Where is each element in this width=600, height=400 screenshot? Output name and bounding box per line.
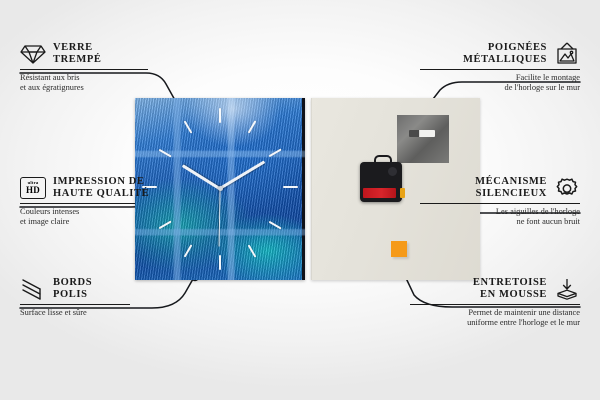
callout-title-line2: POLIS — [53, 289, 92, 301]
callout-header: ENTRETOISE EN MOUSSE — [410, 277, 580, 301]
framed-picture-icon — [554, 42, 580, 66]
callout-polished-edges: BORDS POLIS Surface lisse et sûre — [20, 277, 180, 318]
callout-sub-line2: et image claire — [20, 217, 195, 227]
hour-marker — [269, 220, 282, 229]
battery-terminal — [400, 188, 405, 198]
callout-sub-line2: de l'horloge sur le mur — [420, 83, 580, 93]
callout-title-line2: MÉTALLIQUES — [463, 54, 547, 66]
battery — [363, 188, 396, 198]
callout-sub-line2: et aux égratignures — [20, 83, 180, 93]
hour-marker — [219, 108, 221, 123]
callout-sub-line1: Surface lisse et sûre — [20, 308, 180, 318]
hour-marker — [184, 120, 193, 133]
callout-title-line1: MÉCANISME — [475, 176, 547, 188]
callout-sub-line1: Les aiguilles de l'horloge — [420, 207, 580, 217]
hour-marker — [269, 148, 282, 157]
callout-print-quality: ultra HD IMPRESSION DE HAUTE QUALITÉ Cou… — [20, 176, 195, 228]
hour-marker — [219, 255, 221, 270]
callout-header: BORDS POLIS — [20, 277, 180, 301]
callout-title-line1: POIGNÉES — [463, 42, 547, 54]
callout-tempered-glass: VERRE TREMPÉ Résistant aux bris et aux é… — [20, 42, 180, 94]
hour-marker — [159, 148, 172, 157]
callout-divider — [410, 304, 580, 305]
callout-header: POIGNÉES MÉTALLIQUES — [420, 42, 580, 66]
callout-sub-line1: Couleurs intenses — [20, 207, 195, 217]
callout-title-line2: EN MOUSSE — [473, 289, 547, 301]
callout-silent-mechanism: MÉCANISME SILENCIEUX Les aiguilles de l'… — [420, 176, 580, 228]
quartz-movement — [360, 162, 402, 202]
callout-header: ultra HD IMPRESSION DE HAUTE QUALITÉ — [20, 176, 195, 200]
polished-edges-icon — [20, 278, 46, 300]
hour-marker — [184, 244, 193, 257]
movement-hook — [374, 155, 392, 166]
callout-sub-line1: Facilite le montage — [420, 73, 580, 83]
callout-title-line1: IMPRESSION DE — [53, 176, 149, 188]
callout-sub-line1: Résistant aux bris — [20, 73, 180, 83]
callout-sub-line2: ne font aucun bruit — [420, 217, 580, 227]
callout-divider — [20, 69, 148, 70]
callout-title-line2: SILENCIEUX — [475, 188, 547, 200]
hanger-slot — [409, 130, 435, 137]
callout-divider — [420, 69, 580, 70]
hour-marker — [248, 120, 257, 133]
callout-divider — [420, 203, 580, 204]
second-hand — [218, 189, 220, 247]
diamond-icon — [20, 43, 46, 65]
callout-metal-handles: POIGNÉES MÉTALLIQUES Facilite le montage… — [420, 42, 580, 94]
callout-divider — [20, 203, 135, 204]
callout-foam-spacer: ENTRETOISE EN MOUSSE Permet de maintenir… — [410, 277, 580, 329]
callout-header: MÉCANISME SILENCIEUX — [420, 176, 580, 200]
hour-marker — [283, 186, 298, 188]
ultra-hd-icon-main: HD — [26, 186, 40, 195]
gear-icon — [554, 176, 580, 200]
callout-title-line1: VERRE — [53, 42, 102, 54]
callout-sub-line2: uniforme entre l'horloge et le mur — [410, 318, 580, 328]
callout-title-line2: TREMPÉ — [53, 54, 102, 66]
callout-header: VERRE TREMPÉ — [20, 42, 180, 66]
hands-center-cap — [218, 186, 223, 191]
movement-dial — [388, 167, 397, 176]
press-down-icon — [554, 277, 580, 301]
hour-marker — [248, 244, 257, 257]
callout-sub-line1: Permet de maintenir une distance — [410, 308, 580, 318]
metal-hanger-plate — [397, 115, 449, 163]
callout-title-line2: HAUTE QUALITÉ — [53, 188, 149, 200]
foam-spacer — [391, 241, 407, 257]
ultra-hd-icon: ultra HD — [20, 177, 46, 199]
callout-title-line1: BORDS — [53, 277, 92, 289]
infographic-canvas: VERRE TREMPÉ Résistant aux bris et aux é… — [0, 0, 600, 400]
callout-divider — [20, 304, 130, 305]
minute-hand — [219, 160, 265, 190]
callout-title-line1: ENTRETOISE — [473, 277, 547, 289]
